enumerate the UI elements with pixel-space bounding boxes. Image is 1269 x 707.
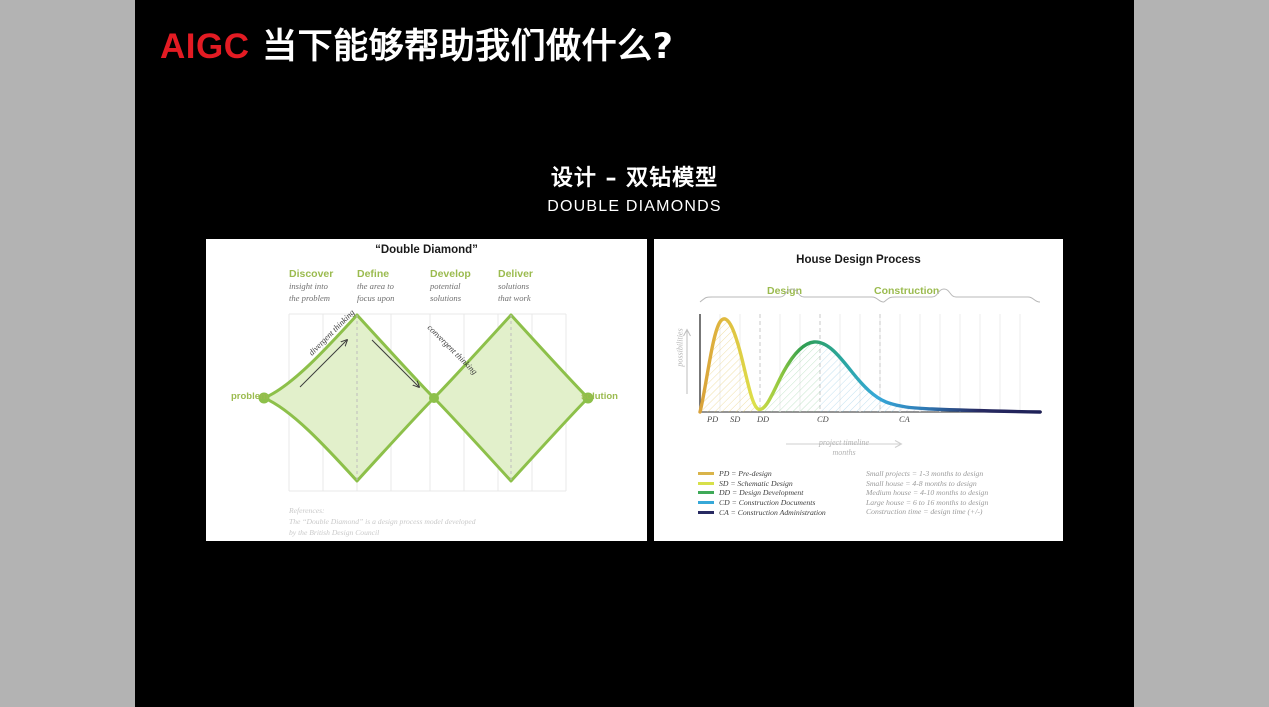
x-tick-cd: CD [817, 415, 829, 424]
solution-label: solution [581, 391, 618, 402]
problem-label: problem [231, 391, 268, 402]
page-title: AIGC 当下能够帮助我们做什么? [160, 18, 674, 69]
legend-label: SD = Schematic Design [719, 479, 793, 488]
legend-label: DD = Design Development [719, 488, 803, 497]
x-tick-dd: DD [757, 415, 769, 424]
chart-note: Small house = 4-8 months to design [866, 479, 988, 489]
legend-item: CA = Construction Administration [698, 507, 826, 517]
section-heading: 设计 – 双钻模型 DOUBLE DIAMONDS [135, 160, 1134, 216]
presentation-slide: AIGC 当下能够帮助我们做什么? 设计 – 双钻模型 DOUBLE DIAMO… [135, 0, 1134, 707]
slide-viewer: AIGC 当下能够帮助我们做什么? 设计 – 双钻模型 DOUBLE DIAMO… [0, 0, 1269, 707]
chart-note: Construction time = design time (+/-) [866, 507, 988, 517]
y-axis-arrow [684, 330, 691, 395]
diamond-shapes [264, 315, 588, 481]
legend-label: PD = Pre-design [719, 469, 772, 478]
section-heading-en: DOUBLE DIAMONDS [135, 198, 1134, 216]
legend-label: CA = Construction Administration [719, 508, 826, 517]
chart-notes: Small projects = 1-3 months to design Sm… [866, 469, 988, 517]
section-braces [700, 289, 1040, 302]
y-axis-label: possibilities [676, 318, 685, 378]
references-note: References: The “Double Diamond” is a de… [289, 505, 476, 538]
x-axis-label: project timeline months [774, 438, 914, 457]
legend-swatch [698, 472, 714, 475]
legend-item: CD = Construction Documents [698, 498, 826, 508]
legend-swatch [698, 491, 714, 494]
chart-note: Large house = 6 to 16 months to design [866, 498, 988, 508]
legend-swatch [698, 501, 714, 504]
house-design-process-figure: House Design Process Design Construction [654, 239, 1063, 541]
title-accent: AIGC [160, 27, 250, 66]
legend-swatch [698, 511, 714, 514]
legend-item: SD = Schematic Design [698, 479, 826, 489]
section-heading-cn: 设计 – 双钻模型 [135, 160, 1134, 192]
x-tick-pd: PD [707, 415, 718, 424]
chart-note: Small projects = 1-3 months to design [866, 469, 988, 479]
x-tick-ca: CA [899, 415, 910, 424]
legend-item: PD = Pre-design [698, 469, 826, 479]
legend-item: DD = Design Development [698, 488, 826, 498]
chart-note: Medium house = 4-10 months to design [866, 488, 988, 498]
double-diamond-svg [206, 239, 647, 541]
title-rest: 当下能够帮助我们做什么? [250, 27, 674, 67]
chart-legend: PD = Pre-design SD = Schematic Design DD… [698, 469, 826, 517]
legend-label: CD = Construction Documents [719, 498, 815, 507]
x-tick-sd: SD [730, 415, 740, 424]
double-diamond-figure: “Double Diamond” Discover insight into t… [206, 239, 647, 541]
legend-swatch [698, 482, 714, 485]
